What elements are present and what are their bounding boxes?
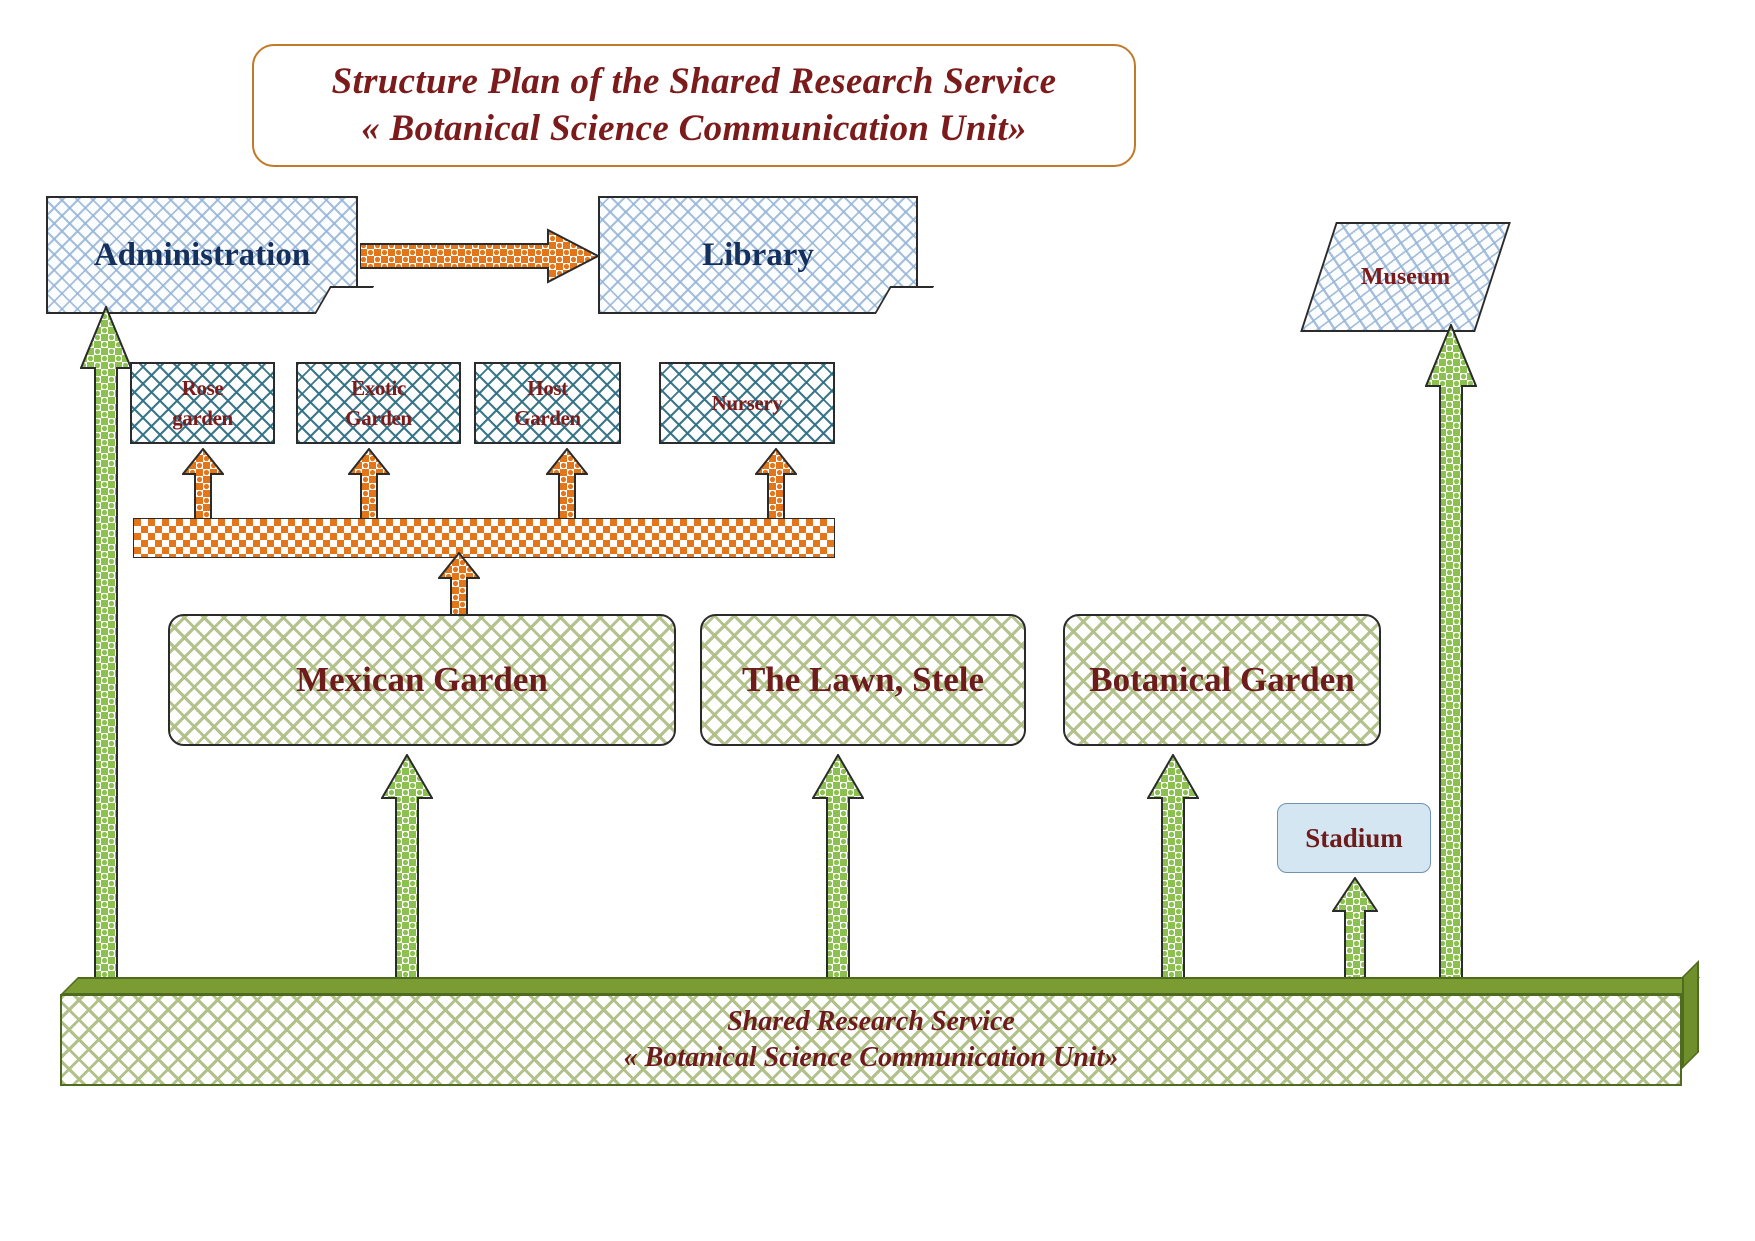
base-bar-label: Shared Research Service « Botanical Scie…: [624, 1004, 1119, 1077]
arrow-base-to-administration: [80, 306, 132, 992]
arrow-bar-to-nursery: [755, 448, 797, 522]
host-garden-label: Host Garden: [514, 373, 580, 434]
arrow-administration-to-library: [360, 228, 600, 284]
arrow-bar-to-host-garden: [546, 448, 588, 522]
arrow-base-to-botanical-garden: [1147, 754, 1199, 994]
node-host-garden[interactable]: Host Garden: [474, 362, 621, 444]
rose-garden-label: Rose garden: [172, 373, 233, 434]
arrow-base-to-mexican-garden: [381, 754, 433, 994]
node-nursery[interactable]: Nursery: [659, 362, 835, 444]
node-rose-garden[interactable]: Rose garden: [130, 362, 275, 444]
node-mexican-garden[interactable]: Mexican Garden: [168, 614, 676, 746]
administration-label: Administration: [94, 237, 310, 274]
node-museum[interactable]: Museum: [1318, 222, 1493, 332]
node-the-lawn-stele[interactable]: The Lawn, Stele: [700, 614, 1026, 746]
stadium-label: Stadium: [1305, 823, 1403, 854]
diagram-title-box: Structure Plan of the Shared Research Se…: [252, 44, 1136, 167]
base-bar-top-face: [60, 977, 1700, 995]
museum-label: Museum: [1318, 222, 1493, 332]
node-stadium[interactable]: Stadium: [1277, 803, 1431, 873]
arrow-bar-to-rose-garden: [182, 448, 224, 522]
library-label: Library: [702, 237, 814, 274]
arrow-base-to-museum: [1425, 324, 1477, 992]
mexican-garden-label: Mexican Garden: [296, 660, 548, 700]
page-fold-icon: [314, 286, 374, 314]
page-fold-icon: [874, 286, 934, 314]
nursery-label: Nursery: [712, 388, 783, 418]
the-lawn-stele-label: The Lawn, Stele: [742, 660, 984, 700]
orange-distribution-bar: [133, 518, 835, 558]
node-shared-research-service-base[interactable]: Shared Research Service « Botanical Scie…: [60, 994, 1682, 1086]
node-exotic-garden[interactable]: Exotic Garden: [296, 362, 461, 444]
arrow-bar-to-exotic-garden: [348, 448, 390, 522]
node-library[interactable]: Library: [598, 196, 918, 314]
exotic-garden-label: Exotic Garden: [345, 373, 411, 434]
node-botanical-garden[interactable]: Botanical Garden: [1063, 614, 1381, 746]
base-bar-side-face: [1682, 960, 1699, 1069]
botanical-garden-label: Botanical Garden: [1089, 660, 1354, 700]
node-administration[interactable]: Administration: [46, 196, 358, 314]
page-title: Structure Plan of the Shared Research Se…: [332, 59, 1057, 152]
arrow-mexican-garden-to-bar: [438, 552, 480, 620]
diagram-canvas: Structure Plan of the Shared Research Se…: [0, 0, 1755, 1241]
arrow-base-to-the-lawn-stele: [812, 754, 864, 994]
